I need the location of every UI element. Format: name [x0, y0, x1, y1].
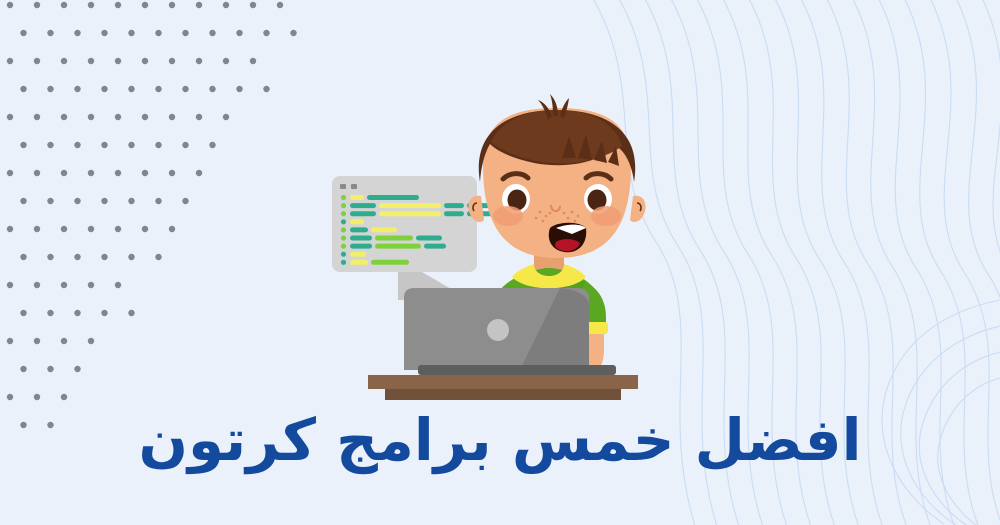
- banner-root: افضل خمس برامج كرتون: [0, 0, 1000, 525]
- laptop-logo: [487, 319, 509, 341]
- cheek-right: [591, 206, 621, 226]
- code-editor-window: [332, 176, 495, 272]
- laptop-base: [418, 365, 616, 375]
- window-dot-1: [340, 184, 346, 189]
- window-dot-2: [351, 184, 357, 189]
- desk-apron: [385, 389, 621, 400]
- page-headline: افضل خمس برامج كرتون: [0, 404, 1000, 477]
- desk-top: [368, 375, 638, 389]
- cheek-left: [493, 206, 523, 226]
- desk: [368, 375, 638, 400]
- laptop: [404, 288, 616, 375]
